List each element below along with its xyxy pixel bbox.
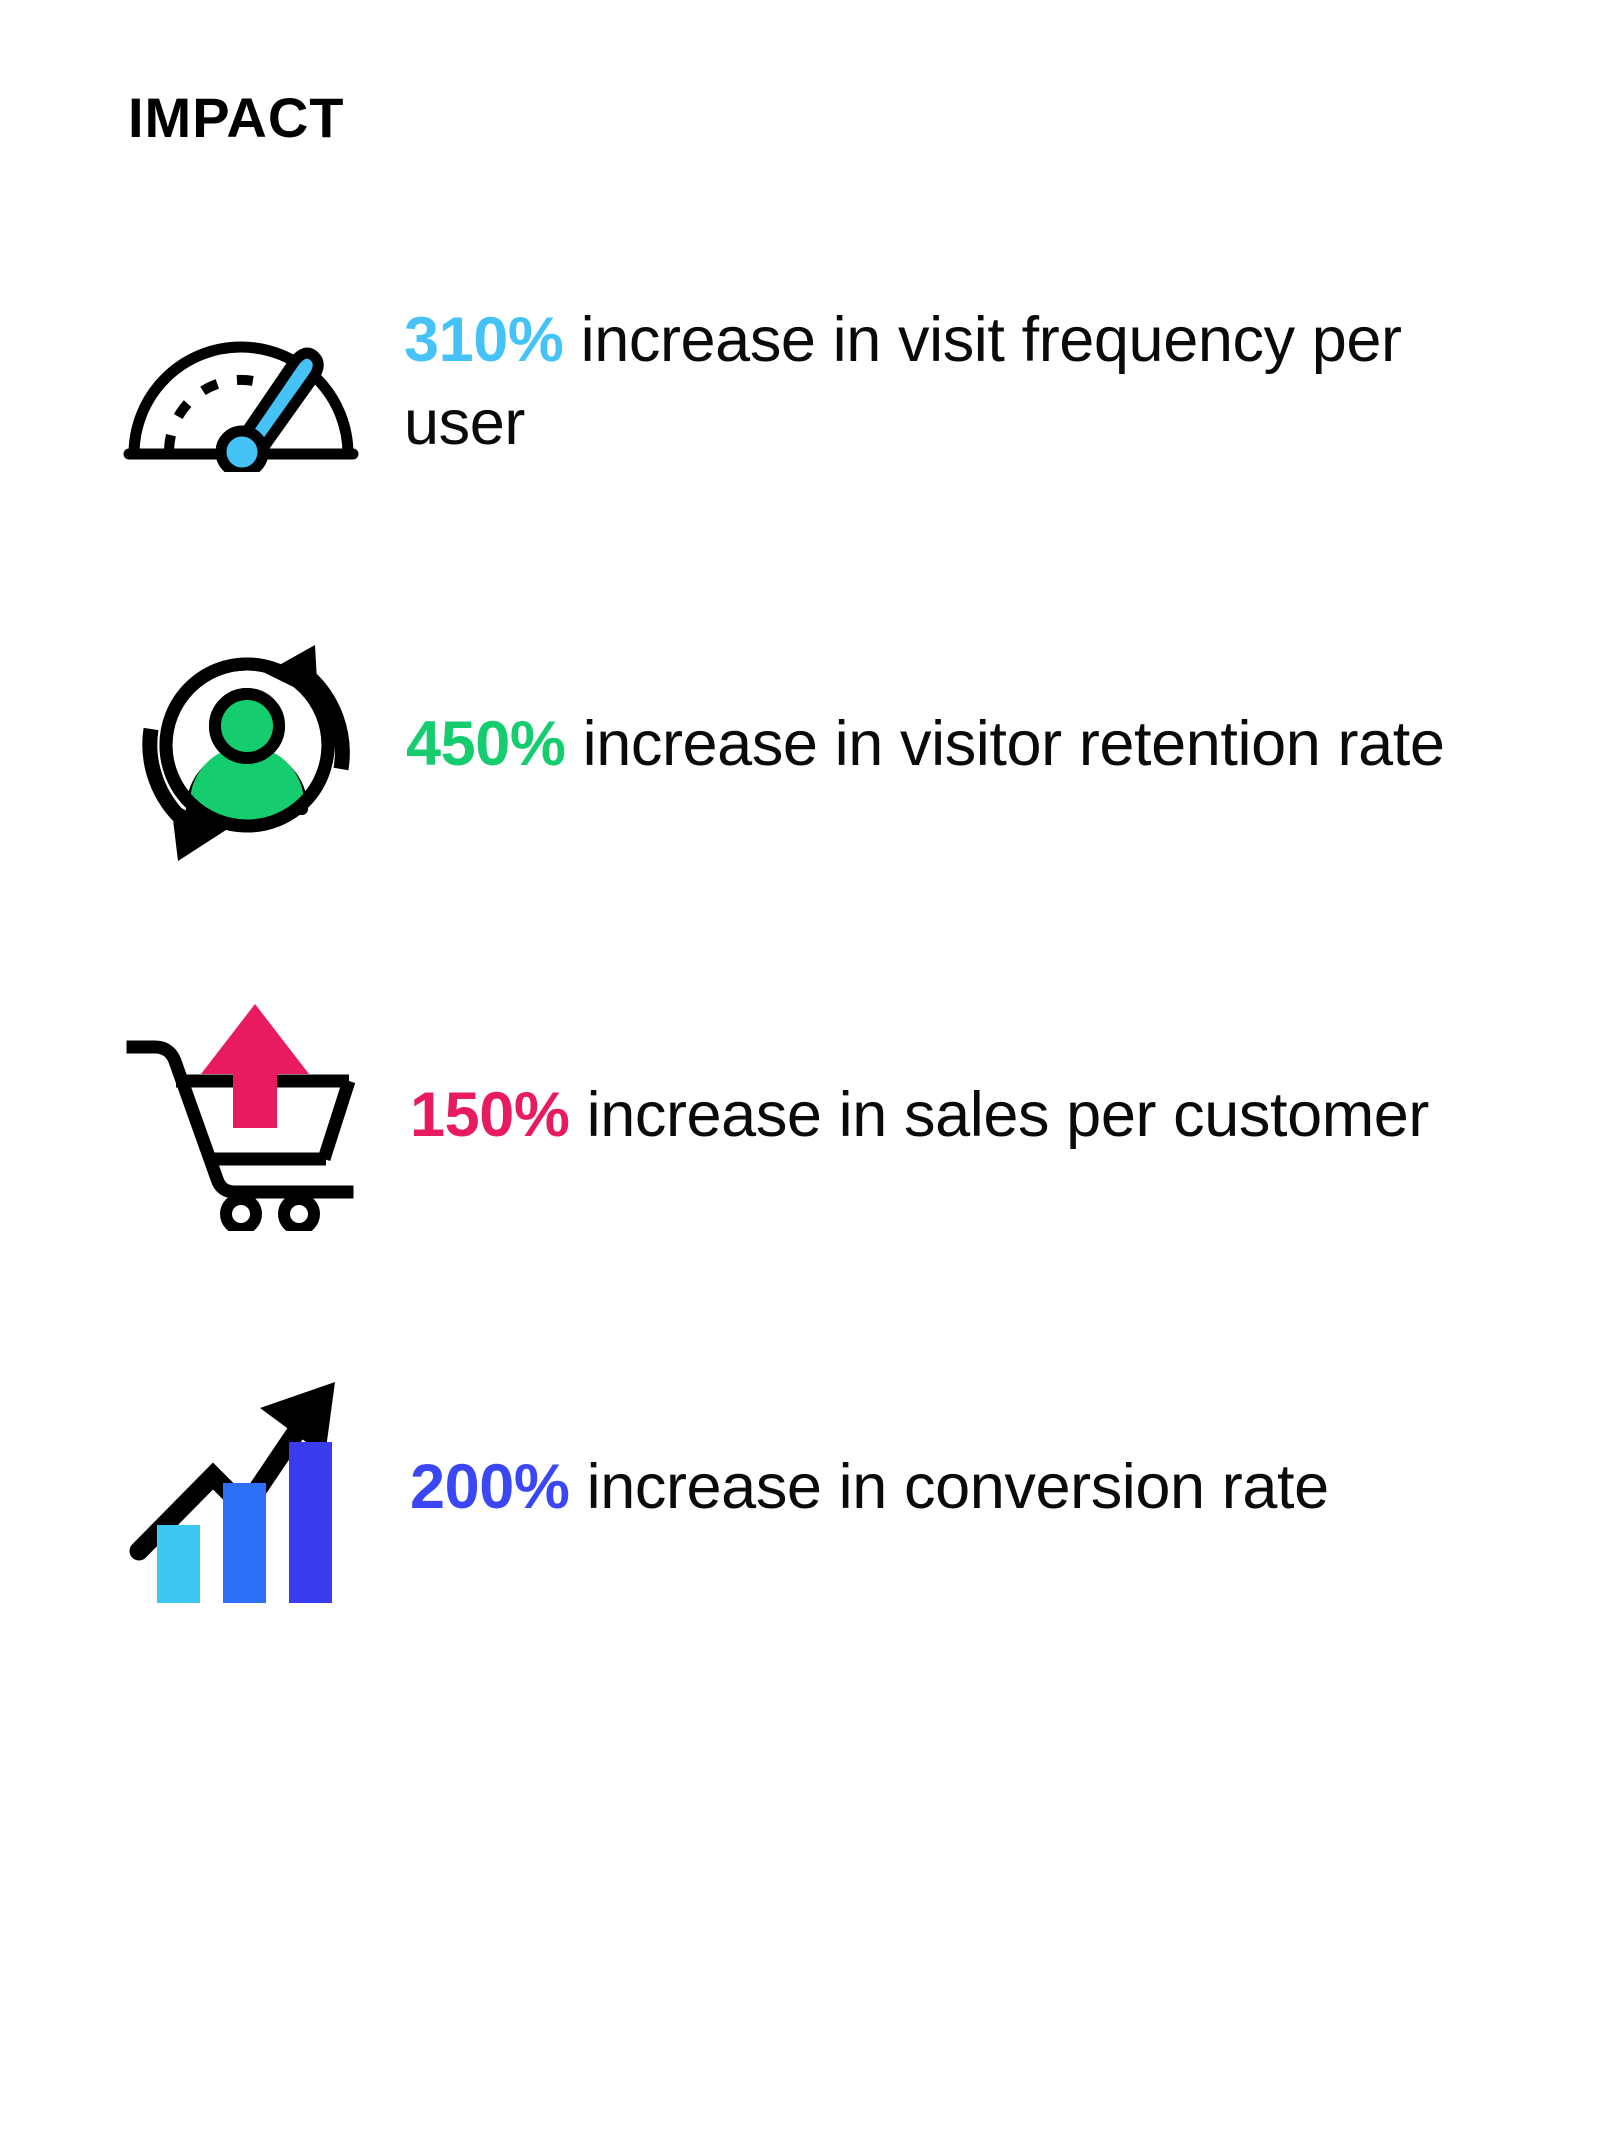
stat-text: 450% increase in visitor retention rate <box>376 703 1590 786</box>
bar-1 <box>157 1525 200 1603</box>
bar-2 <box>223 1483 266 1603</box>
stat-description: increase in conversion rate <box>570 1452 1329 1522</box>
user-retention-icon <box>106 625 376 865</box>
stat-text: 200% increase in conversion rate <box>376 1446 1590 1529</box>
impact-card: IMPACT 310% increase in visit frequency … <box>10 8 1590 2140</box>
stat-metric: 150% <box>410 1080 570 1150</box>
stat-row-visit-frequency: 310% increase in visit frequency per use… <box>10 204 1590 560</box>
stat-metric: 200% <box>410 1452 570 1522</box>
stat-metric: 310% <box>404 305 564 375</box>
stat-row-visitor-retention: 450% increase in visitor retention rate <box>10 560 1590 930</box>
stat-text: 310% increase in visit frequency per use… <box>376 299 1590 465</box>
stat-row-sales-per-customer: 150% increase in sales per customer <box>10 930 1590 1302</box>
stat-metric: 450% <box>406 709 566 779</box>
stat-row-conversion-rate: 200% increase in conversion rate <box>10 1302 1590 1674</box>
stat-text: 150% increase in sales per customer <box>376 1074 1590 1157</box>
speedometer-icon <box>106 262 376 502</box>
bar-3 <box>289 1442 332 1603</box>
stat-description: increase in sales per customer <box>570 1080 1429 1150</box>
shopping-cart-up-icon <box>106 996 376 1236</box>
growth-bar-chart-icon <box>106 1368 376 1608</box>
stats-list: 310% increase in visit frequency per use… <box>10 204 1590 1674</box>
stat-description: increase in visitor retention rate <box>566 709 1445 779</box>
page-title: IMPACT <box>128 90 345 146</box>
